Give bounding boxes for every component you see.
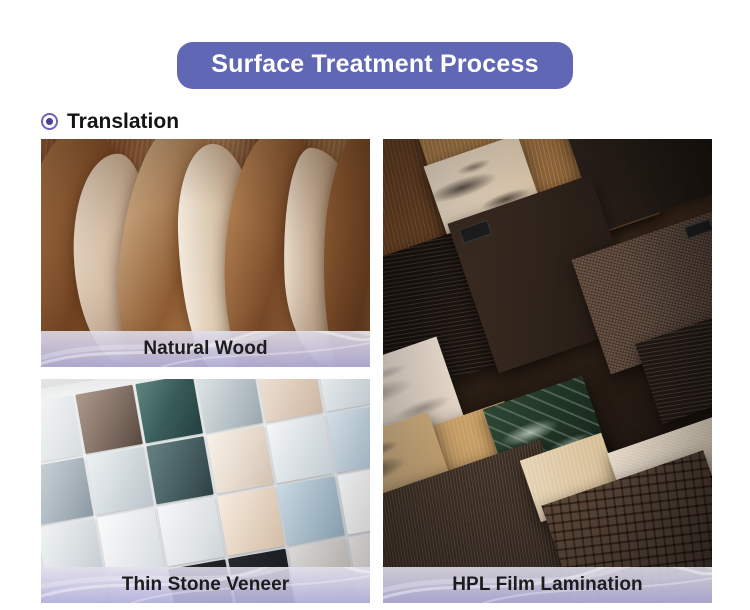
section-label-translation: Translation: [41, 111, 750, 132]
card-hpl-film-lamination[interactable]: HPL Film Lamination: [383, 139, 712, 603]
page-title-banner: Surface Treatment Process: [177, 42, 572, 89]
radio-selected-icon[interactable]: [41, 113, 58, 130]
section-label-text: Translation: [67, 111, 179, 132]
surface-treatment-grid: Natural Wood: [41, 139, 712, 603]
caption-text: Natural Wood: [143, 338, 267, 360]
caption-bar-hpl-film-lamination: HPL Film Lamination: [383, 567, 712, 603]
card-natural-wood[interactable]: Natural Wood: [41, 139, 370, 367]
caption-text: HPL Film Lamination: [452, 574, 643, 596]
hpl-vignette: [383, 139, 712, 603]
caption-bar-natural-wood: Natural Wood: [41, 331, 370, 367]
caption-bar-thin-stone-veneer: Thin Stone Veneer: [41, 567, 370, 603]
card-thin-stone-veneer[interactable]: Thin Stone Veneer: [41, 379, 370, 603]
photo-hpl-film-lamination: [383, 139, 712, 603]
banner-row: Surface Treatment Process: [0, 0, 750, 89]
caption-text: Thin Stone Veneer: [122, 574, 289, 596]
